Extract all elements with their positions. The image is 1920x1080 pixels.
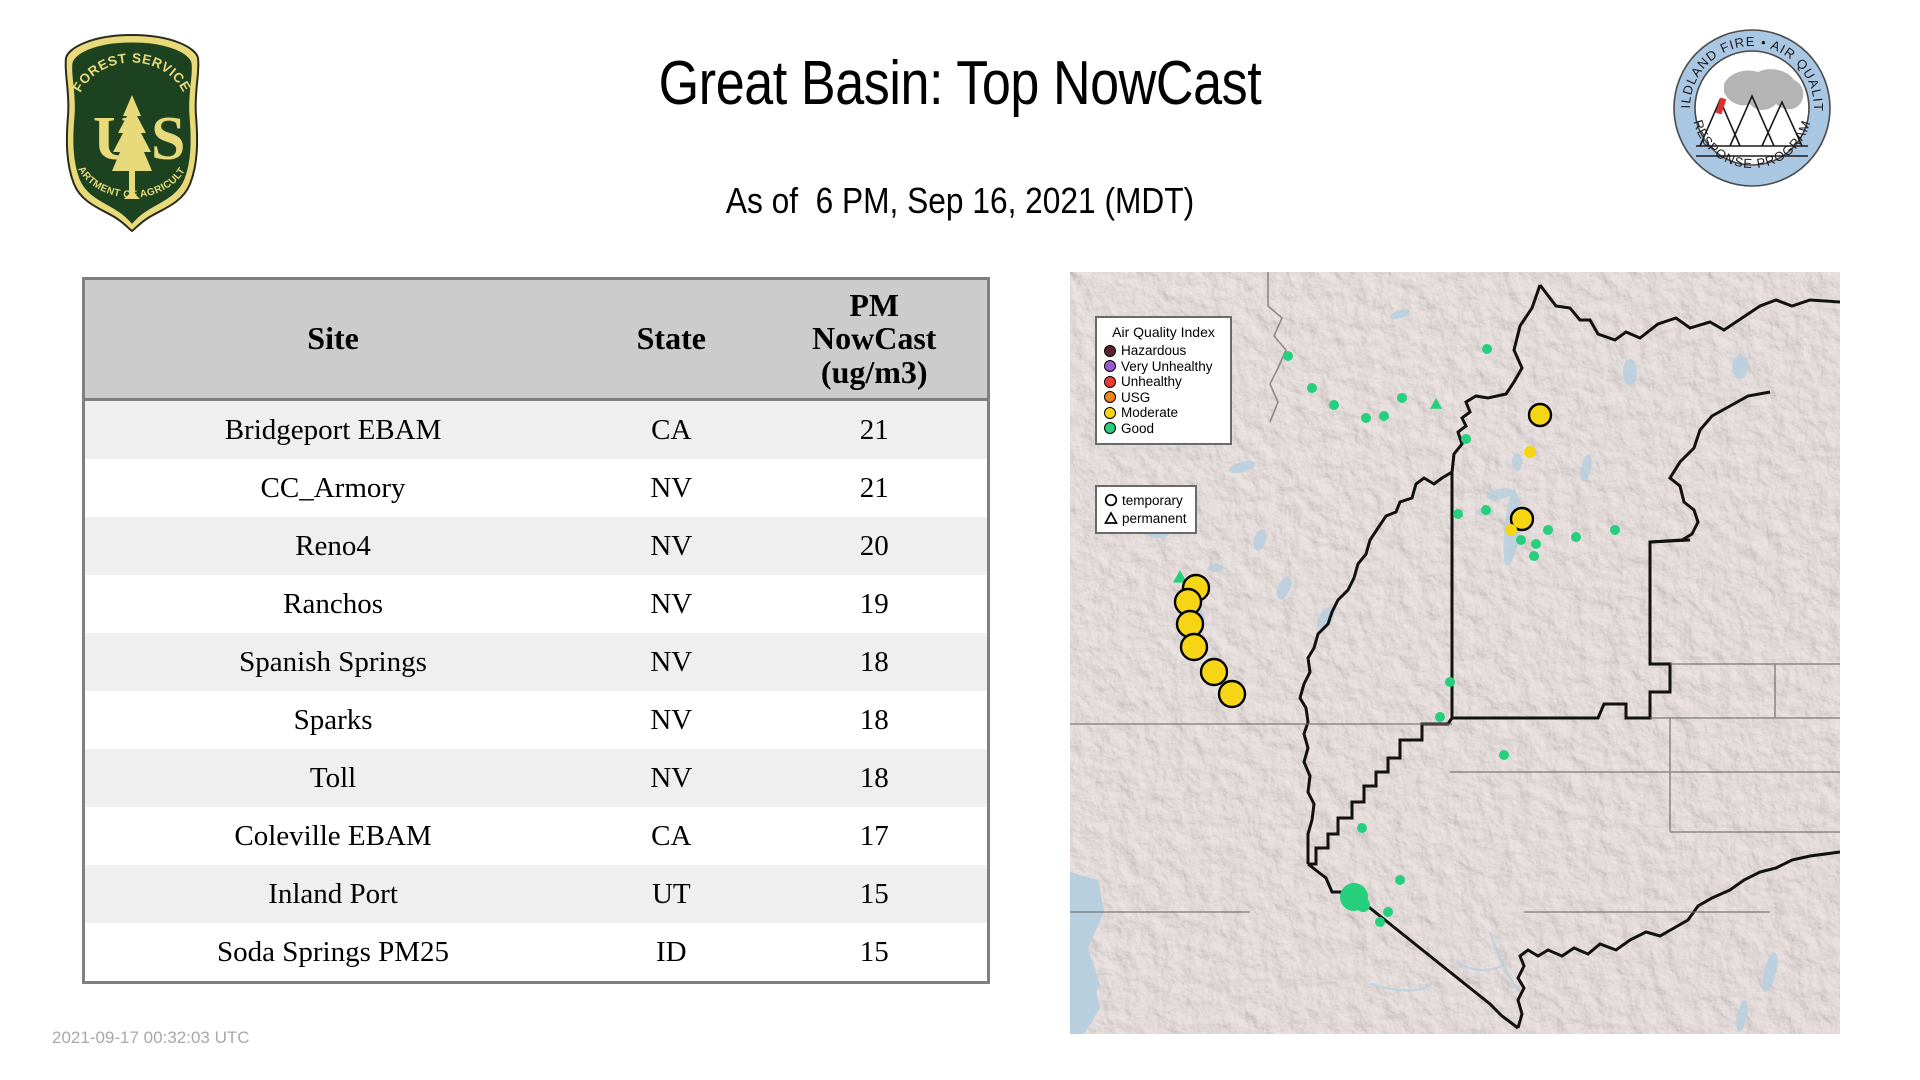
permanent-site-icon [1103, 511, 1119, 525]
page-title: Great Basin: Top NowCast [154, 48, 1767, 119]
table-row: Soda Springs PM25ID15 [85, 923, 987, 981]
aqi-legend-item: Hazardous [1104, 343, 1223, 359]
cell-state: CA [581, 400, 761, 460]
cell-value: 15 [761, 923, 987, 981]
column-header-state: State [581, 280, 761, 400]
aqi-legend-item: Unhealthy [1104, 374, 1223, 390]
aqi-legend-label: USG [1121, 390, 1150, 405]
map-marker[interactable] [1329, 400, 1339, 410]
cell-site: Reno4 [85, 517, 581, 575]
table-row: CC_ArmoryNV21 [85, 459, 987, 517]
map-marker[interactable] [1379, 411, 1389, 421]
map-marker[interactable] [1481, 505, 1491, 515]
cell-site: Bridgeport EBAM [85, 400, 581, 460]
map-marker[interactable] [1445, 677, 1455, 687]
table-row: TollNV18 [85, 749, 987, 807]
column-header-pm-line3: (ug/m3) [765, 356, 983, 389]
column-header-pm-nowcast: PM NowCast (ug/m3) [761, 280, 987, 400]
cell-site: Soda Springs PM25 [85, 923, 581, 981]
map-marker[interactable] [1357, 823, 1367, 833]
table-row: RanchosNV19 [85, 575, 987, 633]
map-marker[interactable] [1529, 404, 1551, 426]
cell-state: NV [581, 691, 761, 749]
aqi-legend-item: Good [1104, 421, 1223, 437]
air-quality-map[interactable]: Air Quality Index HazardousVery Unhealth… [1070, 272, 1840, 1034]
site-type-permanent: permanent [1103, 509, 1190, 527]
map-marker[interactable] [1505, 524, 1517, 536]
site-type-legend: temporary permanent [1095, 485, 1197, 534]
map-marker[interactable] [1610, 525, 1620, 535]
table-row: Coleville EBAMCA17 [85, 807, 987, 865]
map-marker[interactable] [1397, 393, 1407, 403]
map-marker[interactable] [1524, 446, 1536, 458]
map-marker[interactable] [1529, 551, 1539, 561]
aqi-legend-label: Moderate [1121, 405, 1178, 420]
cell-value: 18 [761, 749, 987, 807]
map-marker[interactable] [1307, 383, 1317, 393]
aqi-swatch-icon [1104, 422, 1116, 434]
cell-site: CC_Armory [85, 459, 581, 517]
aqi-swatch-icon [1104, 360, 1116, 372]
map-marker[interactable] [1283, 351, 1293, 361]
cell-value: 21 [761, 459, 987, 517]
aqi-swatch-icon [1104, 407, 1116, 419]
map-marker[interactable] [1482, 344, 1492, 354]
temporary-site-icon [1103, 493, 1119, 507]
aqi-swatch-icon [1104, 345, 1116, 357]
aqi-swatch-icon [1104, 376, 1116, 388]
aqi-legend-label: Hazardous [1121, 343, 1186, 358]
map-marker[interactable] [1219, 681, 1245, 707]
cell-site: Spanish Springs [85, 633, 581, 691]
cell-state: UT [581, 865, 761, 923]
cell-state: CA [581, 807, 761, 865]
aqi-legend-label: Unhealthy [1121, 374, 1182, 389]
generated-timestamp: 2021-09-17 00:32:03 UTC [52, 1028, 250, 1048]
site-type-temporary-label: temporary [1122, 493, 1183, 508]
map-marker[interactable] [1543, 525, 1553, 535]
aqi-legend-item: Moderate [1104, 405, 1223, 421]
table-row: SparksNV18 [85, 691, 987, 749]
map-marker[interactable] [1383, 907, 1393, 917]
aqi-legend-label: Good [1121, 421, 1154, 436]
nowcast-table: Site State PM NowCast (ug/m3) Bridgeport… [82, 277, 990, 984]
map-marker[interactable] [1177, 611, 1203, 637]
column-header-site: Site [85, 280, 581, 400]
table-row: Bridgeport EBAMCA21 [85, 400, 987, 460]
map-marker[interactable] [1395, 875, 1405, 885]
map-marker[interactable] [1453, 509, 1463, 519]
map-marker[interactable] [1181, 634, 1207, 660]
cell-value: 21 [761, 400, 987, 460]
map-marker[interactable] [1435, 712, 1445, 722]
cell-state: NV [581, 749, 761, 807]
cell-state: NV [581, 575, 761, 633]
cell-value: 18 [761, 633, 987, 691]
map-marker[interactable] [1201, 659, 1227, 685]
cell-value: 20 [761, 517, 987, 575]
site-type-permanent-label: permanent [1122, 511, 1187, 526]
map-marker[interactable] [1361, 413, 1371, 423]
aqi-legend-label: Very Unhealthy [1121, 359, 1213, 374]
cell-state: NV [581, 517, 761, 575]
aqi-legend-item: USG [1104, 390, 1223, 406]
aqi-legend: Air Quality Index HazardousVery Unhealth… [1095, 316, 1232, 445]
table-row: Inland PortUT15 [85, 865, 987, 923]
column-header-pm-line1: PM [765, 289, 983, 322]
cell-state: NV [581, 633, 761, 691]
aqi-legend-item: Very Unhealthy [1104, 359, 1223, 375]
table-row: Reno4NV20 [85, 517, 987, 575]
map-marker[interactable] [1516, 535, 1526, 545]
aqi-legend-title: Air Quality Index [1104, 324, 1223, 340]
cell-site: Coleville EBAM [85, 807, 581, 865]
map-marker[interactable] [1461, 434, 1471, 444]
cell-state: NV [581, 459, 761, 517]
cell-site: Sparks [85, 691, 581, 749]
page-subtitle: As of 6 PM, Sep 16, 2021 (MDT) [115, 180, 1805, 222]
cell-value: 15 [761, 865, 987, 923]
cell-site: Toll [85, 749, 581, 807]
cell-value: 18 [761, 691, 987, 749]
cell-site: Ranchos [85, 575, 581, 633]
map-marker[interactable] [1375, 917, 1385, 927]
table-row: Spanish SpringsNV18 [85, 633, 987, 691]
aqi-swatch-icon [1104, 391, 1116, 403]
cell-value: 17 [761, 807, 987, 865]
cell-site: Inland Port [85, 865, 581, 923]
cell-state: ID [581, 923, 761, 981]
table-header-row: Site State PM NowCast (ug/m3) [85, 280, 987, 400]
map-marker[interactable] [1571, 532, 1581, 542]
map-marker[interactable] [1531, 539, 1541, 549]
column-header-pm-line2: NowCast [765, 322, 983, 355]
cell-value: 19 [761, 575, 987, 633]
map-marker[interactable] [1356, 898, 1370, 912]
site-type-temporary: temporary [1103, 491, 1190, 509]
map-marker[interactable] [1499, 750, 1509, 760]
